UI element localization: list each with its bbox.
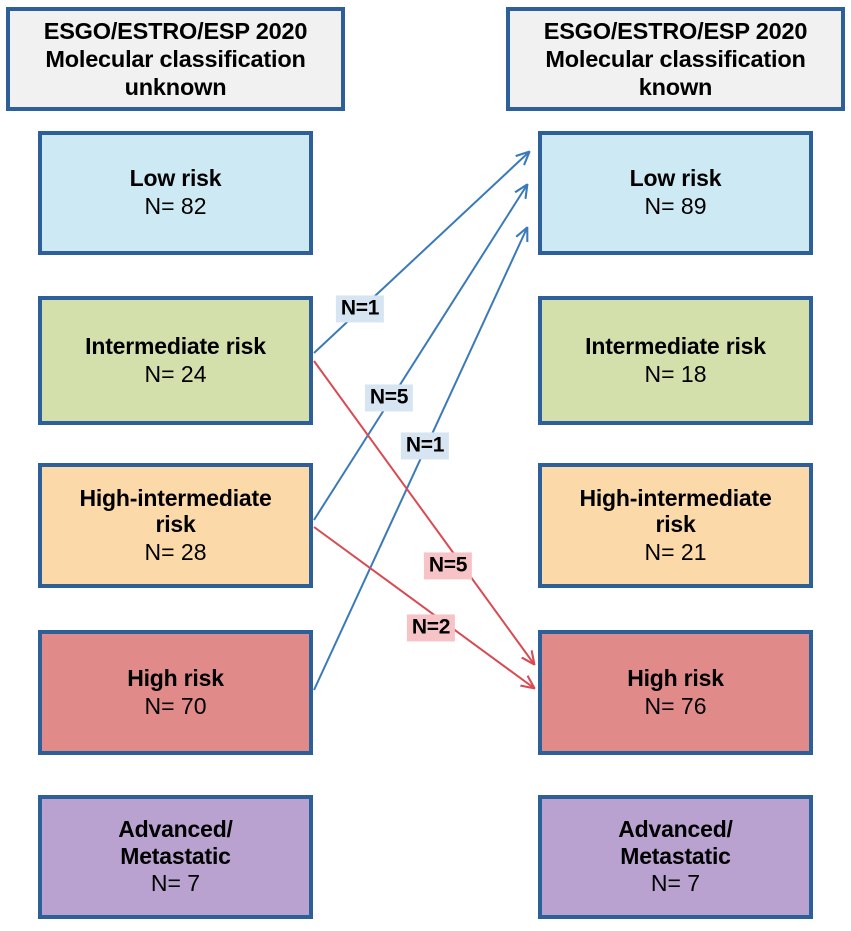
right-box-low-risk-count: N= 89 [644, 192, 706, 221]
right-box-high-risk-label: High risk [627, 665, 724, 692]
left-box-intermediate-risk-count: N= 24 [144, 360, 206, 389]
flow-label-intermediate-to-low: N=1 [336, 295, 384, 322]
flow-label-highintermediate-to-low: N=5 [365, 384, 413, 411]
right-box-high-intermediate-risk-count: N= 21 [644, 538, 706, 567]
flow-label-text: N=1 [406, 433, 444, 456]
right-box-low-risk-label: Low risk [630, 165, 722, 192]
flow-label-text: N=2 [412, 615, 450, 638]
left-box-advanced-metastatic[interactable]: Advanced/ Metastatic N= 7 [38, 795, 313, 919]
right-box-intermediate-risk-label: Intermediate risk [585, 333, 766, 360]
right-box-advanced-metastatic[interactable]: Advanced/ Metastatic N= 7 [538, 795, 813, 919]
left-box-high-risk[interactable]: High risk N= 70 [38, 630, 313, 755]
left-box-high-risk-count: N= 70 [144, 692, 206, 721]
flow-arrow-highintermediate-to-low [314, 185, 527, 520]
left-box-advanced-metastatic-count: N= 7 [151, 869, 200, 898]
flow-label-text: N=5 [429, 553, 467, 576]
left-box-high-intermediate-risk-label: High-intermediate risk [68, 485, 283, 538]
flow-arrow-intermediate-to-low [314, 152, 529, 353]
flow-label-intermediate-to-high: N=5 [424, 552, 472, 579]
right-box-intermediate-risk-count: N= 18 [644, 360, 706, 389]
flow-label-highintermediate-to-high: N=2 [407, 614, 455, 641]
flow-label-high-to-low: N=1 [401, 432, 449, 459]
left-box-low-risk-count: N= 82 [144, 192, 206, 221]
right-box-high-risk[interactable]: High risk N= 76 [538, 630, 813, 755]
header-left-text: ESGO/ESTRO/ESP 2020 Molecular classifica… [16, 17, 335, 102]
right-box-advanced-metastatic-label: Advanced/ Metastatic [611, 816, 741, 869]
right-box-high-risk-count: N= 76 [644, 692, 706, 721]
left-box-intermediate-risk-label: Intermediate risk [85, 333, 266, 360]
right-box-high-intermediate-risk[interactable]: High-intermediate risk N= 21 [538, 463, 813, 588]
header-right-text: ESGO/ESTRO/ESP 2020 Molecular classifica… [516, 17, 835, 102]
flow-diagram: ESGO/ESTRO/ESP 2020 Molecular classifica… [0, 0, 851, 931]
right-box-advanced-metastatic-count: N= 7 [651, 869, 700, 898]
right-box-low-risk[interactable]: Low risk N= 89 [538, 131, 813, 255]
header-box-left: ESGO/ESTRO/ESP 2020 Molecular classifica… [6, 7, 345, 111]
left-box-high-intermediate-risk-count: N= 28 [144, 538, 206, 567]
right-box-intermediate-risk[interactable]: Intermediate risk N= 18 [538, 296, 813, 425]
header-box-right: ESGO/ESTRO/ESP 2020 Molecular classifica… [506, 7, 845, 111]
left-box-high-risk-label: High risk [127, 665, 224, 692]
left-box-high-intermediate-risk[interactable]: High-intermediate risk N= 28 [38, 463, 313, 588]
flow-arrow-highintermediate-to-high [314, 527, 534, 688]
left-box-intermediate-risk[interactable]: Intermediate risk N= 24 [38, 296, 313, 425]
flow-label-text: N=1 [341, 296, 379, 319]
left-box-advanced-metastatic-label: Advanced/ Metastatic [111, 816, 241, 869]
left-box-low-risk[interactable]: Low risk N= 82 [38, 131, 313, 255]
right-box-high-intermediate-risk-label: High-intermediate risk [568, 485, 783, 538]
flow-label-text: N=5 [370, 385, 408, 408]
left-box-low-risk-label: Low risk [130, 165, 222, 192]
